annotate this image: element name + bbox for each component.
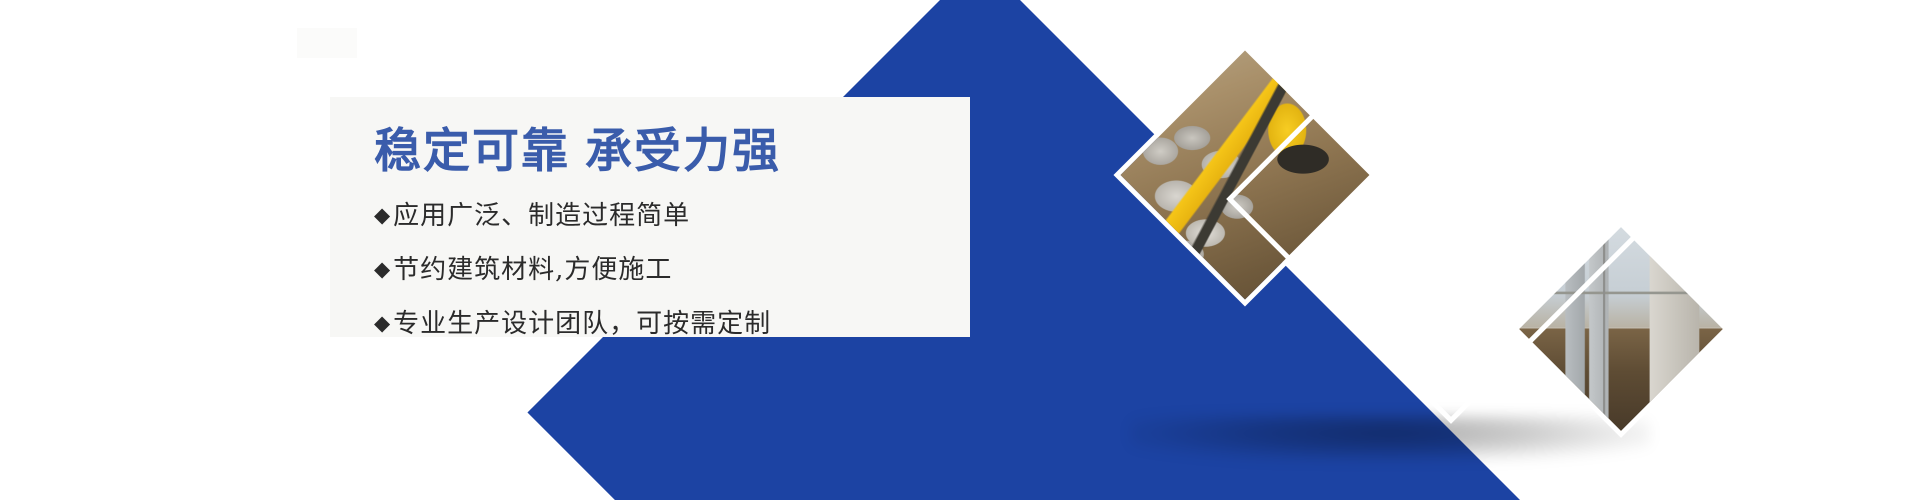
diamond-cluster-shadow	[1130, 415, 1650, 461]
feature-list-item-label: 节约建筑材料,方便施工	[393, 255, 672, 285]
diamond-bullet-icon: ◆	[374, 203, 391, 227]
promo-banner: 稳定可靠 承受力强 ◆应用广泛、制造过程简单 ◆节约建筑材料,方便施工 ◆专业生…	[0, 0, 1920, 500]
feature-list-item: ◆专业生产设计团队，可按需定制	[374, 311, 970, 337]
feature-list-item: ◆应用广泛、制造过程简单	[374, 203, 970, 229]
copy-block: 稳定可靠 承受力强 ◆应用广泛、制造过程简单 ◆节约建筑材料,方便施工 ◆专业生…	[330, 97, 970, 365]
diamond-bullet-icon: ◆	[374, 257, 391, 281]
banner-headline: 稳定可靠 承受力强	[330, 97, 970, 177]
decorative-ghost-block	[297, 28, 357, 58]
feature-list: ◆应用广泛、制造过程简单 ◆节约建筑材料,方便施工 ◆专业生产设计团队，可按需定…	[330, 177, 970, 337]
feature-list-item: ◆节约建筑材料,方便施工	[374, 257, 970, 283]
diamond-bullet-icon: ◆	[374, 311, 391, 335]
feature-list-item-label: 应用广泛、制造过程简单	[393, 201, 690, 231]
feature-list-item-label: 专业生产设计团队，可按需定制	[393, 309, 771, 339]
